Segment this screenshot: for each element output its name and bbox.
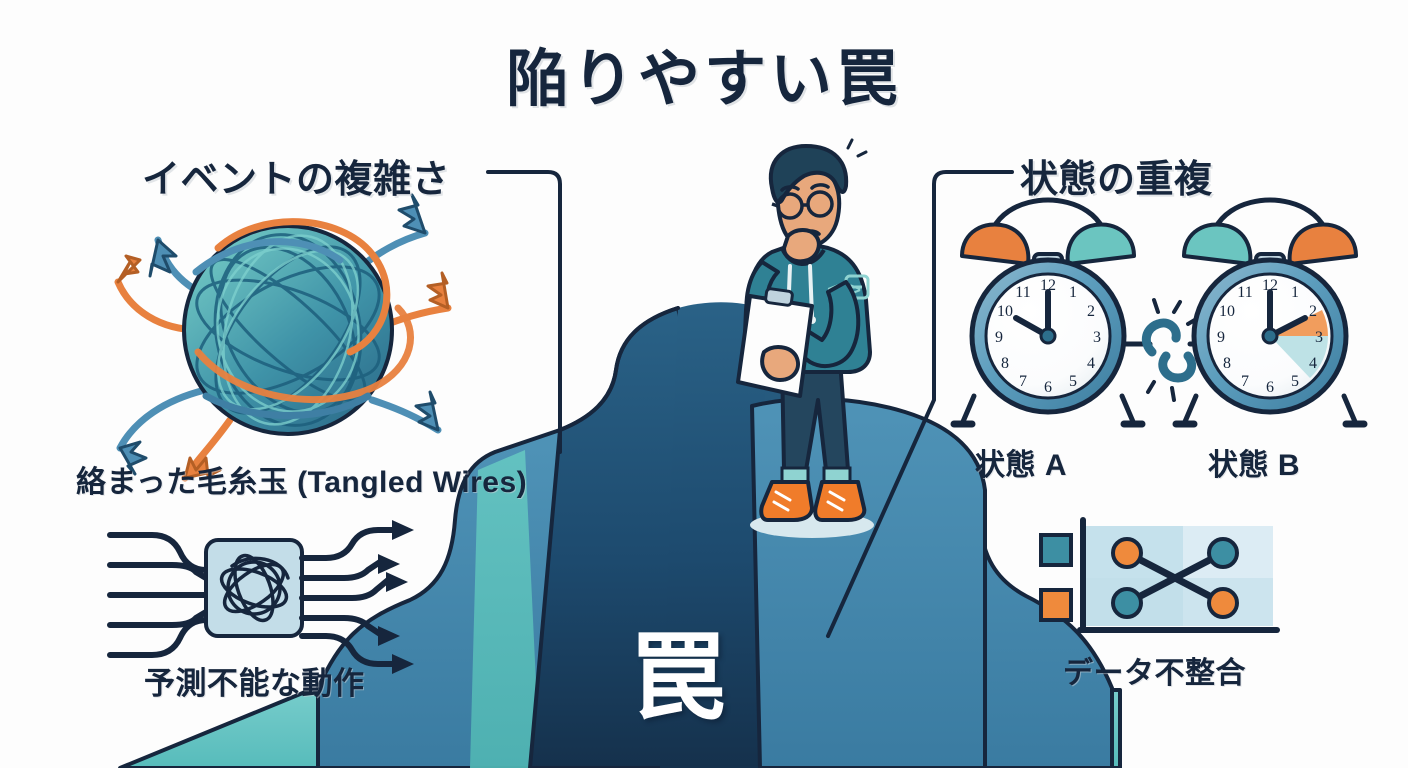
svg-text:10: 10 bbox=[997, 303, 1013, 320]
connector-left bbox=[488, 172, 560, 452]
svg-text:4: 4 bbox=[1087, 355, 1095, 372]
svg-text:9: 9 bbox=[1217, 329, 1225, 346]
crossing-lines-chart-icon bbox=[1041, 520, 1277, 630]
svg-text:11: 11 bbox=[1237, 284, 1252, 301]
infographic-canvas: 12 1 2 3 4 5 6 7 8 9 10 11 bbox=[0, 0, 1408, 768]
chasm-trap-character: 罠 bbox=[630, 600, 726, 739]
caption-unpredictable-behavior: 予測不能な動作 bbox=[144, 658, 365, 703]
svg-text:5: 5 bbox=[1291, 373, 1299, 390]
figure-shoe-right bbox=[815, 482, 864, 520]
page-title: 陥りやすい罠 bbox=[0, 28, 1408, 118]
svg-text:8: 8 bbox=[1001, 355, 1009, 372]
svg-text:3: 3 bbox=[1093, 329, 1101, 346]
svg-text:7: 7 bbox=[1019, 373, 1027, 390]
svg-text:5: 5 bbox=[1069, 373, 1077, 390]
svg-text:2: 2 bbox=[1087, 303, 1095, 320]
svg-text:1: 1 bbox=[1069, 284, 1077, 301]
branch-label-left: イベントの複雑さ bbox=[142, 148, 450, 203]
figure-shoe-left bbox=[761, 482, 812, 520]
svg-text:7: 7 bbox=[1241, 373, 1249, 390]
svg-text:6: 6 bbox=[1266, 379, 1274, 396]
svg-text:4: 4 bbox=[1309, 355, 1317, 372]
svg-text:8: 8 bbox=[1223, 355, 1231, 372]
svg-text:11: 11 bbox=[1015, 284, 1030, 301]
svg-text:2: 2 bbox=[1309, 303, 1317, 320]
caption-state-b: 状態 B bbox=[1208, 440, 1300, 484]
alarm-clock-state-a: 12 1 2 3 4 5 6 7 8 9 10 11 bbox=[954, 200, 1142, 424]
tangled-yarn-ball-icon bbox=[118, 195, 448, 478]
caption-data-mismatch: データ不整合 bbox=[1063, 648, 1246, 692]
figure-lower-hand bbox=[762, 347, 798, 380]
svg-text:10: 10 bbox=[1219, 303, 1235, 320]
svg-text:1: 1 bbox=[1291, 284, 1299, 301]
figure-thinking-hand bbox=[784, 230, 819, 261]
svg-text:6: 6 bbox=[1044, 379, 1052, 396]
svg-text:9: 9 bbox=[995, 329, 1003, 346]
alarm-clock-state-b: 12 1 2 3 4 5 6 7 8 9 10 11 bbox=[1176, 200, 1364, 424]
branch-label-right: 状態の重複 bbox=[1020, 148, 1213, 203]
svg-text:3: 3 bbox=[1315, 329, 1323, 346]
caption-tangled-wires: 絡まった毛糸玉 (Tangled Wires) bbox=[76, 457, 527, 501]
caption-state-a: 状態 A bbox=[975, 440, 1067, 484]
